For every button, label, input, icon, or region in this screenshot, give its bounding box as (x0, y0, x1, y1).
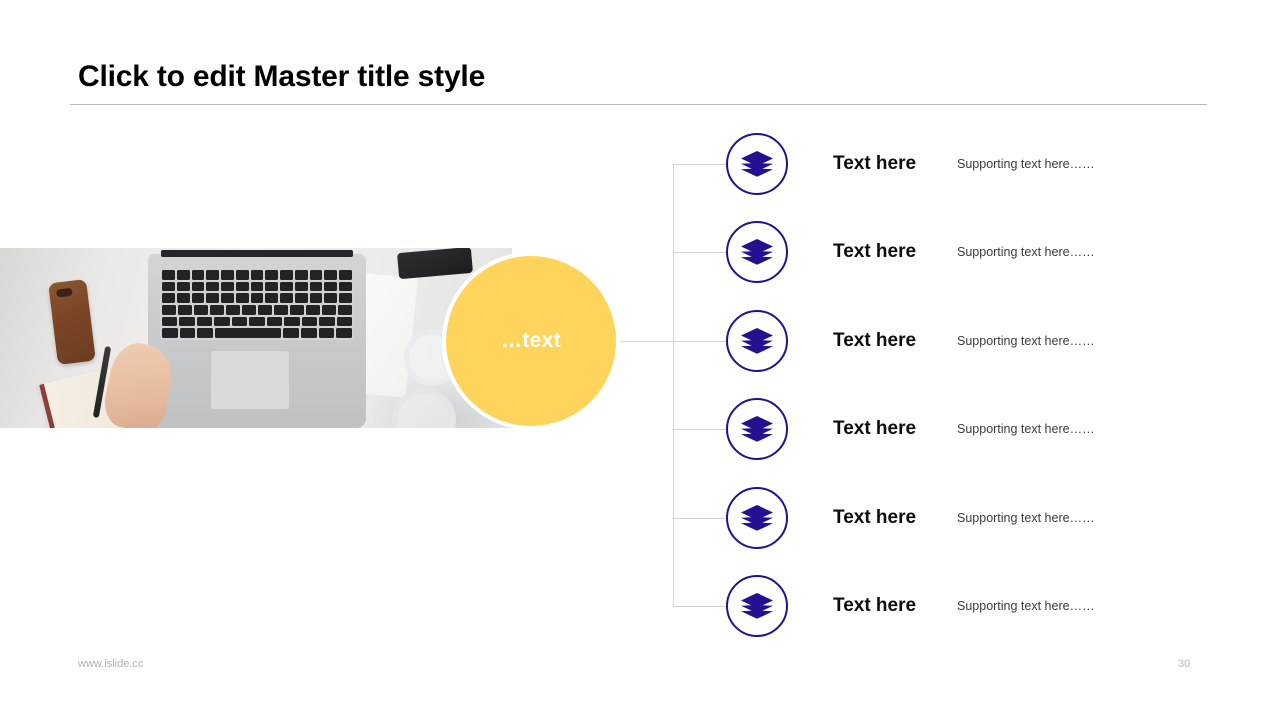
slide-page-number: 30 (1178, 658, 1190, 670)
row-heading: Text here (833, 418, 957, 440)
title-divider (70, 104, 1207, 105)
layers-icon[interactable] (726, 398, 788, 460)
row-support-text: Supporting text here…… (957, 157, 1095, 171)
row-heading: Text here (833, 507, 957, 529)
connector-branch (673, 606, 727, 607)
hub-label: …text (501, 329, 561, 353)
row-support-text: Supporting text here…… (957, 599, 1095, 613)
list-item[interactable]: Text here Supporting text here…… (673, 133, 1233, 195)
layers-icon[interactable] (726, 133, 788, 195)
page-title[interactable]: Click to edit Master title style (78, 60, 485, 94)
row-support-text: Supporting text here…… (957, 511, 1095, 525)
laptop (148, 254, 366, 428)
list-item[interactable]: Text here Supporting text here…… (673, 575, 1233, 637)
list-item[interactable]: Text here Supporting text here…… (673, 221, 1233, 283)
connector-branch (673, 164, 727, 165)
list-item[interactable]: Text here Supporting text here…… (673, 487, 1233, 549)
connector-branch (673, 341, 727, 342)
row-support-text: Supporting text here…… (957, 334, 1095, 348)
laptop-hinge (161, 250, 353, 257)
row-support-text: Supporting text here…… (957, 245, 1095, 259)
row-heading: Text here (833, 153, 957, 175)
list-item[interactable]: Text here Supporting text here…… (673, 310, 1233, 372)
layers-icon[interactable] (726, 487, 788, 549)
connector-branch (673, 429, 727, 430)
row-heading: Text here (833, 241, 957, 263)
center-hub-circle[interactable]: …text (442, 252, 620, 430)
connector-branch (673, 518, 727, 519)
row-heading: Text here (833, 595, 957, 617)
list-item[interactable]: Text here Supporting text here…… (673, 398, 1233, 460)
footer-site-url[interactable]: www.islide.cc (78, 658, 143, 670)
row-support-text: Supporting text here…… (957, 422, 1095, 436)
connector-branch (673, 252, 727, 253)
desk-photo[interactable] (0, 248, 512, 428)
row-heading: Text here (833, 330, 957, 352)
layers-icon[interactable] (726, 575, 788, 637)
laptop-trackpad (210, 350, 290, 410)
layers-icon[interactable] (726, 221, 788, 283)
layers-icon[interactable] (726, 310, 788, 372)
laptop-keyboard (160, 268, 354, 340)
